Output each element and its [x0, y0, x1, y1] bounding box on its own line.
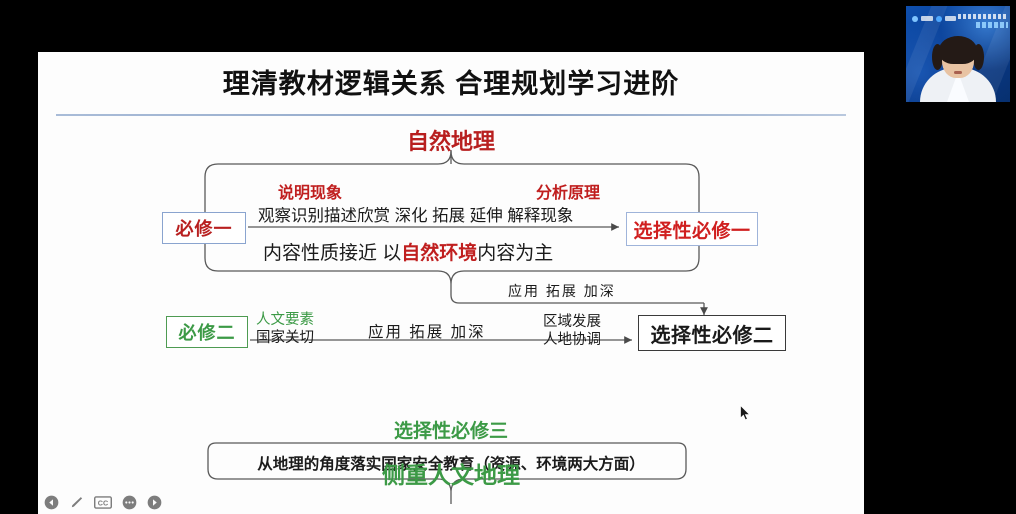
box-bixiu-2[interactable]: 必修二 [166, 316, 248, 348]
forward-circle-icon[interactable] [147, 495, 162, 510]
video-caption-line-2 [976, 22, 1008, 28]
cc-icon[interactable]: CC [94, 495, 112, 510]
page-title: 理清教材逻辑关系 合理规划学习进阶 [38, 62, 864, 101]
mouse-cursor [740, 405, 751, 421]
presenter-mouth [954, 71, 962, 74]
logo-bar [921, 16, 934, 21]
player-toolbar: CC [44, 495, 162, 510]
diagram-connectors [38, 52, 864, 514]
presenter-figure [912, 36, 1004, 102]
label-apply-extend-deepen-top: 应用 拓展 加深 [508, 281, 616, 301]
box-elective-bixiu-2[interactable]: 选择性必修二 [638, 315, 786, 351]
presenter-video[interactable] [906, 6, 1010, 102]
label-row2-detail: 内容性质接近 以自然环境内容为主 [263, 238, 553, 265]
label-apply-extend-deepen-mid: 应用 拓展 加深 [368, 320, 486, 342]
svg-text:CC: CC [98, 498, 108, 507]
logo-dot-icon [912, 16, 918, 22]
more-icon[interactable] [122, 495, 137, 510]
video-logo [912, 15, 956, 22]
box-elective-bixiu-1[interactable]: 选择性必修一 [626, 212, 758, 246]
row2-highlight: 自然环境 [401, 243, 477, 264]
logo-dot-icon [936, 16, 942, 22]
node-physical-geography: 自然地理 [38, 124, 864, 156]
pen-icon[interactable] [69, 495, 84, 510]
box-bixiu-1[interactable]: 必修一 [162, 212, 246, 244]
label-explain-phenomenon: 说明现象 [278, 179, 342, 203]
row2-text-a: 内容性质接近 以 [263, 243, 401, 264]
presenter-hair-top [939, 36, 977, 64]
video-caption-line-1 [958, 14, 1008, 19]
node-human-geography: 侧重人文地理 [38, 456, 864, 490]
label-row1-detail: 观察识别描述欣赏 深化 拓展 延伸 解释现象 [258, 202, 573, 226]
screen: 理清教材逻辑关系 合理规划学习进阶 [0, 0, 1016, 514]
row2-text-b: 内容为主 [477, 243, 553, 264]
label-human-land-coordination: 人地协调 [543, 328, 601, 349]
label-analyze-principle: 分析原理 [536, 179, 600, 203]
logo-bar [945, 16, 956, 21]
slide-canvas: 理清教材逻辑关系 合理规划学习进阶 [38, 52, 864, 514]
title-divider [56, 114, 846, 116]
label-national-concern: 国家关切 [256, 326, 314, 347]
back-circle-icon[interactable] [44, 495, 59, 510]
